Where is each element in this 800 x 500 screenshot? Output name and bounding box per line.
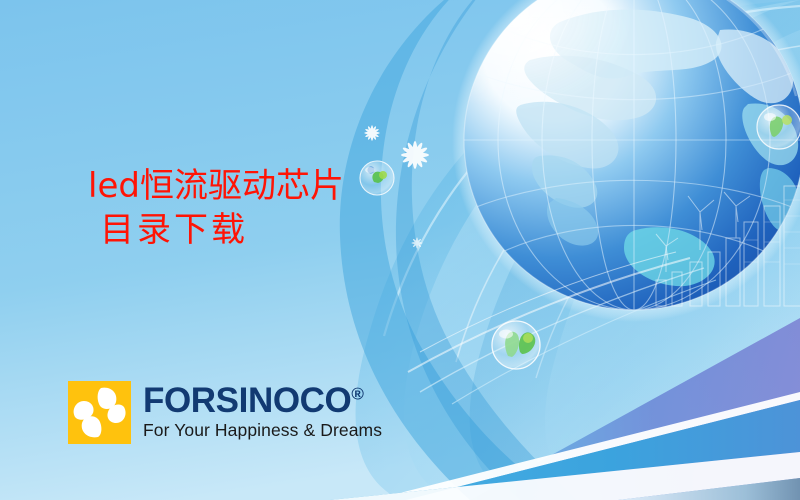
brand-name-text: FORSINOCO <box>143 381 351 420</box>
headline-line-2: 目录下载 <box>100 208 344 252</box>
eco-bubble <box>757 105 800 149</box>
company-logo: FORSINOCO® For Your Happiness & Dreams <box>68 381 382 444</box>
brand-name: FORSINOCO® <box>143 383 382 418</box>
headline-line-1: led恒流驱动芯片 <box>88 164 344 208</box>
eco-bubble <box>360 161 394 195</box>
logotype: FORSINOCO® For Your Happiness & Dreams <box>143 381 382 441</box>
headline-text: led恒流驱动芯片 目录下载 <box>88 164 344 252</box>
registered-trademark-icon: ® <box>351 384 364 403</box>
eco-bubble <box>492 321 540 369</box>
forsinoco-pinwheel-logomark <box>68 381 131 444</box>
banner-image: led恒流驱动芯片 目录下载 FORSINOCO® For Your Happi… <box>0 0 800 500</box>
brand-tagline: For Your Happiness & Dreams <box>143 420 382 441</box>
